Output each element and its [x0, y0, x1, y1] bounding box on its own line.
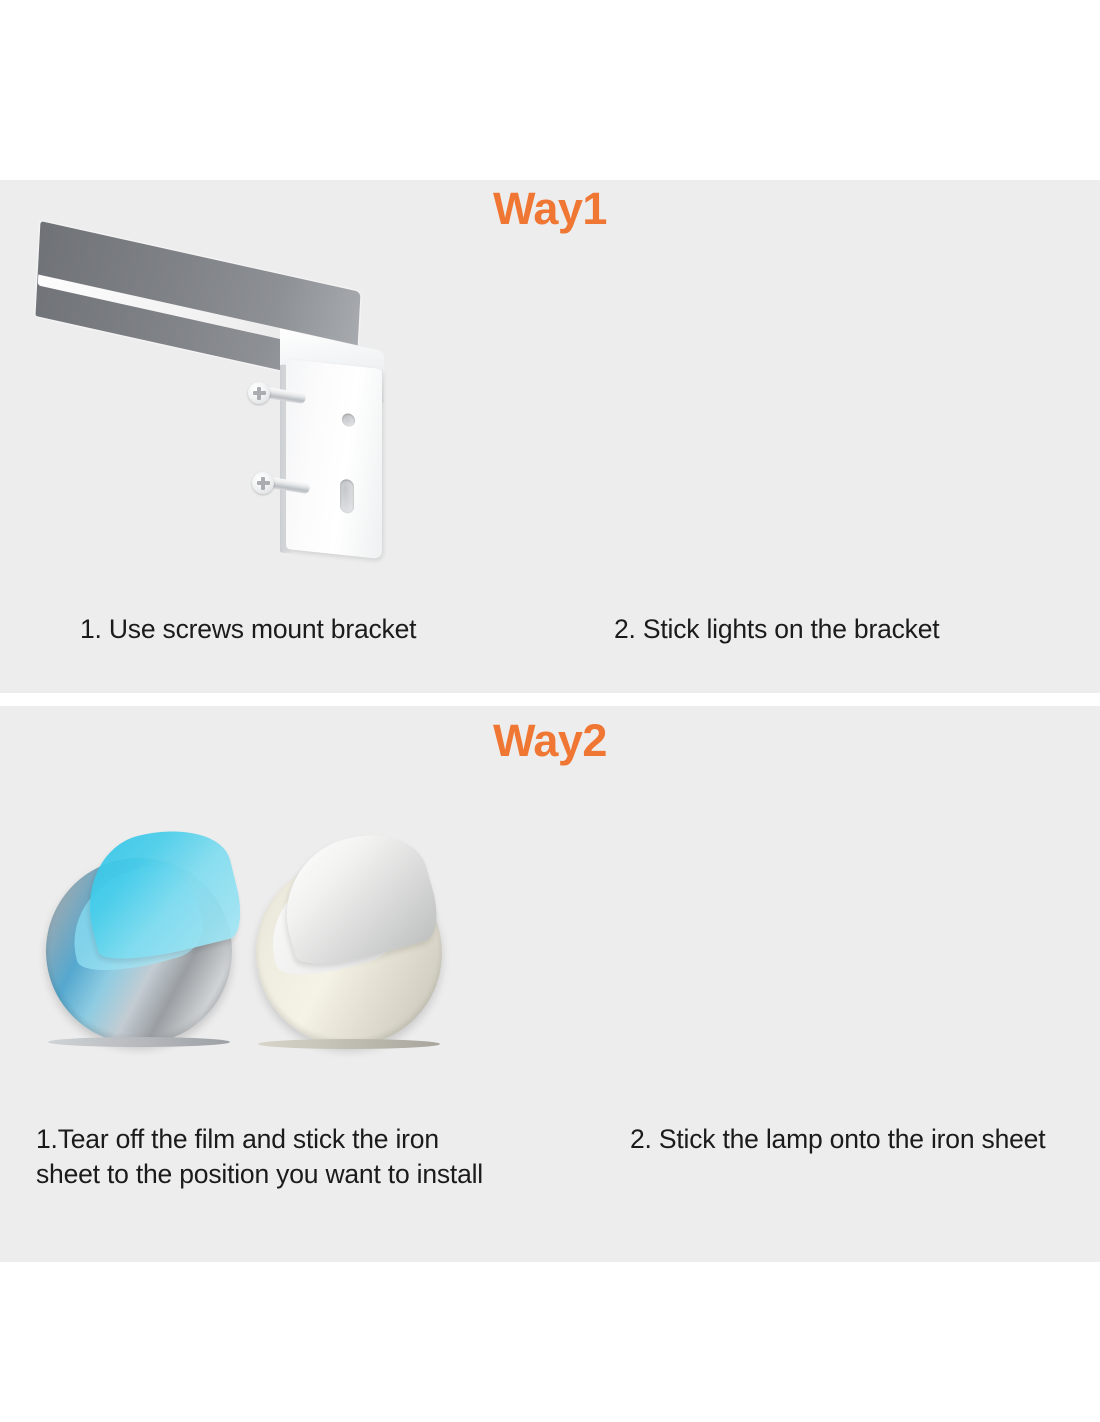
iron-sheet-with-blue-film: [46, 858, 232, 1044]
screw-cross-horizontal: [253, 391, 266, 395]
iron-sheet-with-adhesive-liner: [256, 860, 442, 1046]
way2-step1-caption: 1.Tear off the film and stick the iron s…: [0, 1122, 550, 1192]
way2-illustrations: [0, 856, 1100, 1066]
screw-shaft: [265, 387, 306, 404]
way1-step1-illustration: [0, 244, 550, 584]
way2-step1: 1.Tear off the film and stick the iron s…: [0, 1122, 550, 1192]
way2-step2-illustration: [550, 856, 1100, 1066]
bracket-round-hole: [342, 413, 355, 427]
screw-cross-horizontal: [257, 481, 270, 485]
way1-step2-illustration: [550, 244, 1100, 584]
mounting-bracket: [30, 244, 430, 584]
way2-captions: 1.Tear off the film and stick the iron s…: [0, 1122, 1100, 1192]
way1-step2-caption: 2. Stick lights on the bracket: [550, 612, 1100, 647]
bracket-oval-slot: [340, 479, 354, 514]
screw-shaft: [269, 477, 310, 494]
section-divider: [0, 693, 1100, 706]
way1-captions: 1. Use screws mount bracket 2. Stick lig…: [0, 612, 1100, 647]
iron-sheet-discs: [40, 856, 440, 1056]
way2-step2-caption: 2. Stick the lamp onto the iron sheet: [550, 1122, 1100, 1157]
way1-step2: 2. Stick lights on the bracket: [550, 612, 1100, 647]
way2-step2: 2. Stick the lamp onto the iron sheet: [550, 1122, 1100, 1192]
instruction-page: Way1: [0, 0, 1100, 1422]
way2-title: Way2: [0, 718, 1100, 763]
way2-step1-illustration: [0, 856, 550, 1066]
way1-step1-caption: 1. Use screws mount bracket: [0, 612, 550, 647]
screw-icon: [252, 472, 312, 494]
way1-title: Way1: [0, 186, 1100, 231]
way1-step1: 1. Use screws mount bracket: [0, 612, 550, 647]
screw-icon: [248, 382, 308, 404]
way1-illustrations: [0, 244, 1100, 584]
